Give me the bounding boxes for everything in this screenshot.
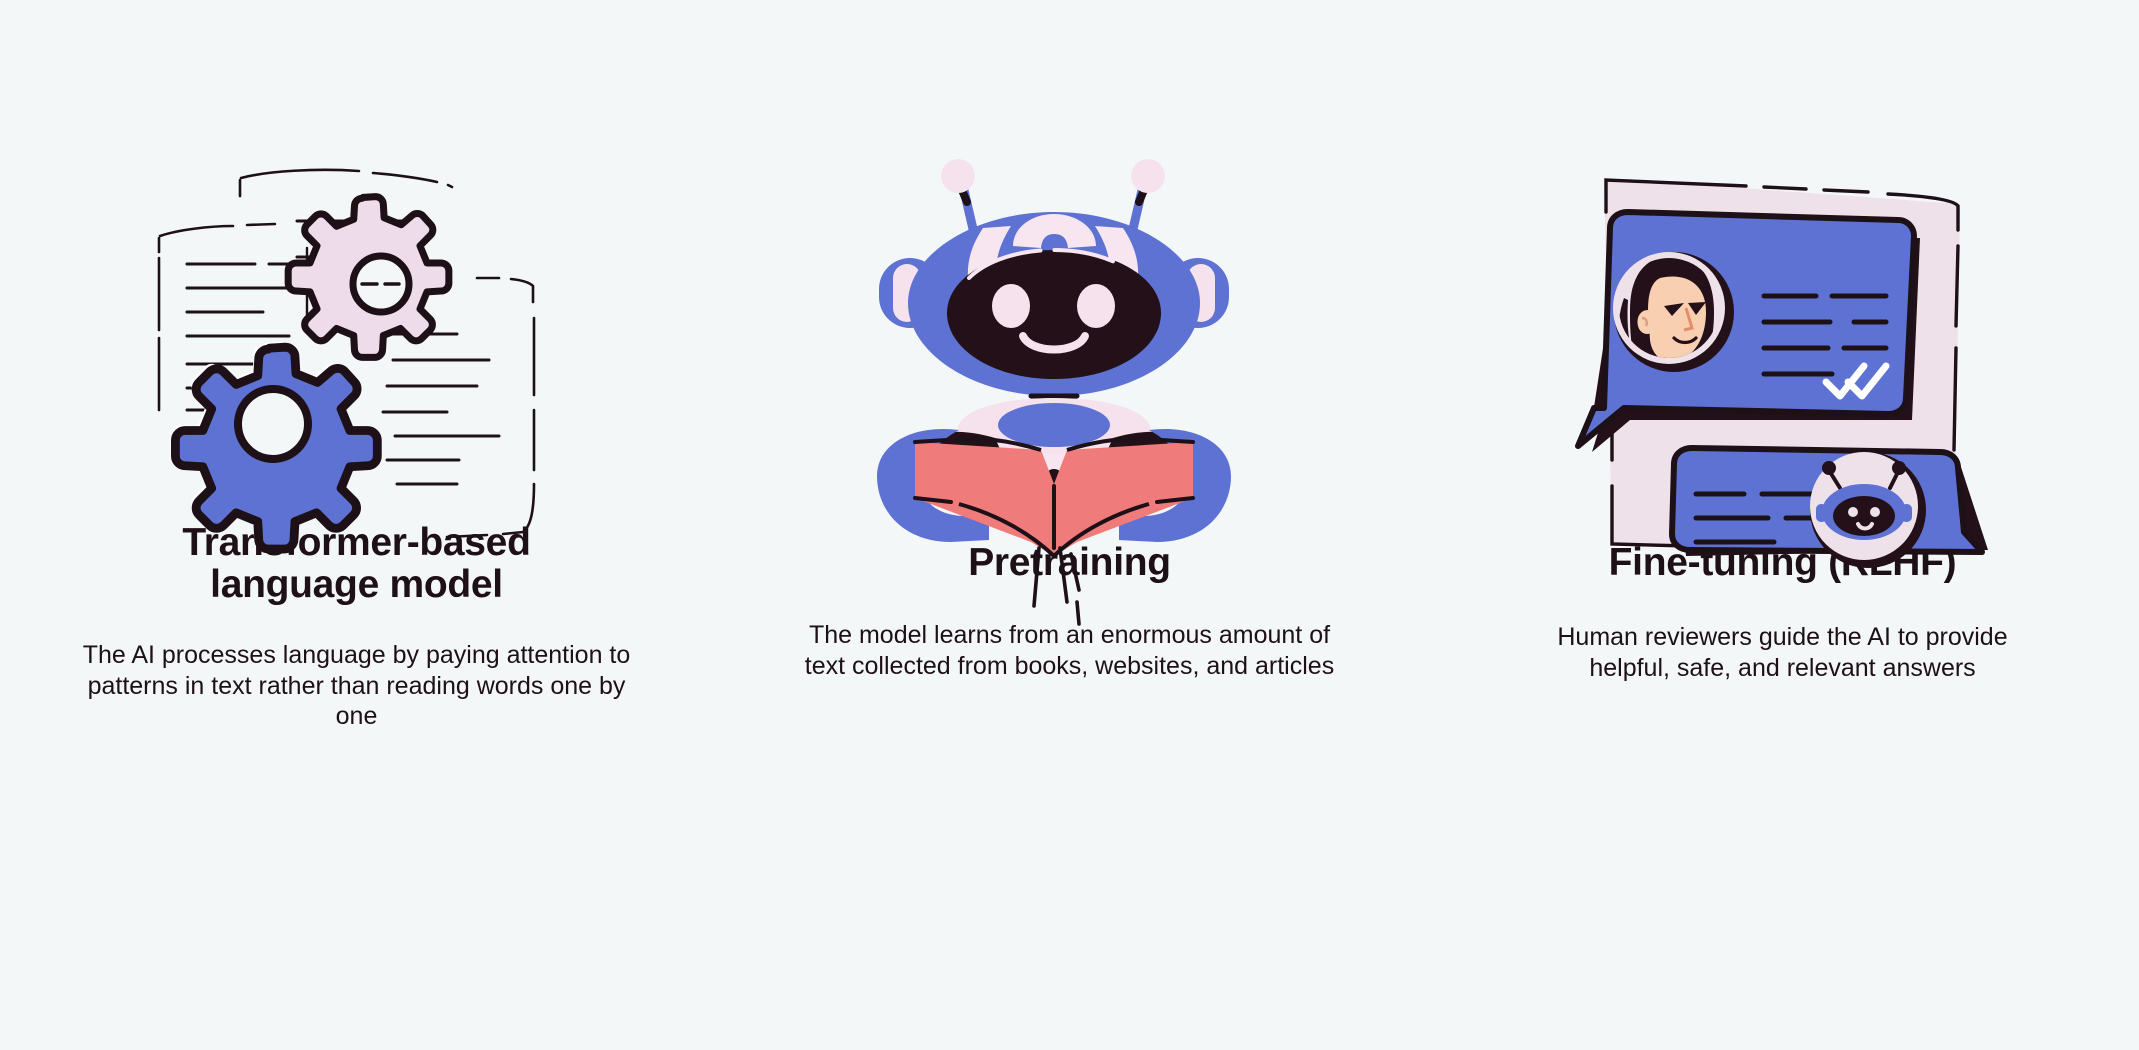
robot-eye-icon [992,284,1030,328]
infographic-root: Transformer-based language model The AI … [0,0,2139,1050]
gear-icon-pink [288,197,451,360]
document-icon [240,170,452,196]
document-icon [447,278,534,537]
chat-bubbles-human-and-robot-illustration [1568,160,1998,560]
chat-bubble-icon [1672,448,1988,568]
illustration-robot-reading-book [713,0,1426,560]
description-text: The AI processes language by paying atte… [77,640,637,732]
illustration-documents-with-gears [0,0,713,560]
robot-reading-book-illustration [855,150,1285,560]
avatar-robot-icon [1810,452,1926,568]
description-text: Human reviewers guide the AI to provide … [1538,622,2028,683]
robot-head-icon [908,212,1200,396]
illustration-chat-bubbles [1426,0,2139,560]
robot-eye-icon [1077,284,1115,328]
column-finetuning: Fine-tuning (RLHF) Human reviewers guide… [1426,0,2139,1050]
chat-bubble-icon [1578,212,1920,452]
column-pretraining: Pretraining The model learns from an eno… [713,0,1426,1050]
description-text: The model learns from an enormous amount… [805,620,1335,681]
documents-with-gears-illustration [147,160,567,560]
page-streak-lines [1034,548,1079,624]
gear-icon-blue [170,342,377,549]
column-transformer: Transformer-based language model The AI … [0,0,713,1050]
